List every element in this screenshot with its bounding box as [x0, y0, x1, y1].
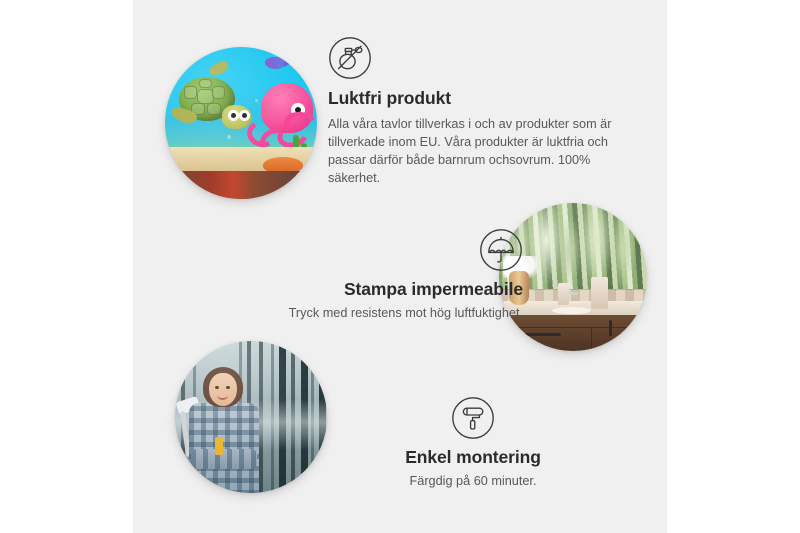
feature-body: Tryck med resistens mot hög luftfuktighe… — [193, 304, 523, 322]
paint-roller-icon — [451, 396, 495, 440]
feature-title: Enkel montering — [323, 447, 623, 468]
product-feature-infographic: Luktfri produkt Alla våra tavlor tillver… — [0, 0, 800, 533]
towel — [591, 277, 608, 309]
feature-block-stampa-impermeabile: Stampa impermeabile Tryck med resistens … — [193, 228, 523, 322]
feature-block-luktfri-produkt: Luktfri produkt Alla våra tavlor tillver… — [328, 36, 638, 187]
underwater-kids-mural-photo — [165, 47, 317, 199]
woman-figure — [189, 403, 259, 493]
feature-block-enkel-montering: Enkel montering Färgdig på 60 minuter. — [323, 396, 623, 490]
umbrella-icon — [479, 228, 523, 272]
feature-title: Luktfri produkt — [328, 88, 638, 109]
feature-title: Stampa impermeabile — [193, 279, 523, 300]
purple-fish — [265, 57, 285, 69]
feature-panel: Luktfri produkt Alla våra tavlor tillver… — [133, 0, 667, 533]
feature-body: Alla våra tavlor tillverkas i och av pro… — [328, 115, 624, 187]
woman-decorator-forest-wallpaper-photo — [175, 341, 327, 493]
feature-body: Färgdig på 60 minuter. — [323, 472, 623, 490]
no-fragrance-icon — [328, 36, 372, 80]
